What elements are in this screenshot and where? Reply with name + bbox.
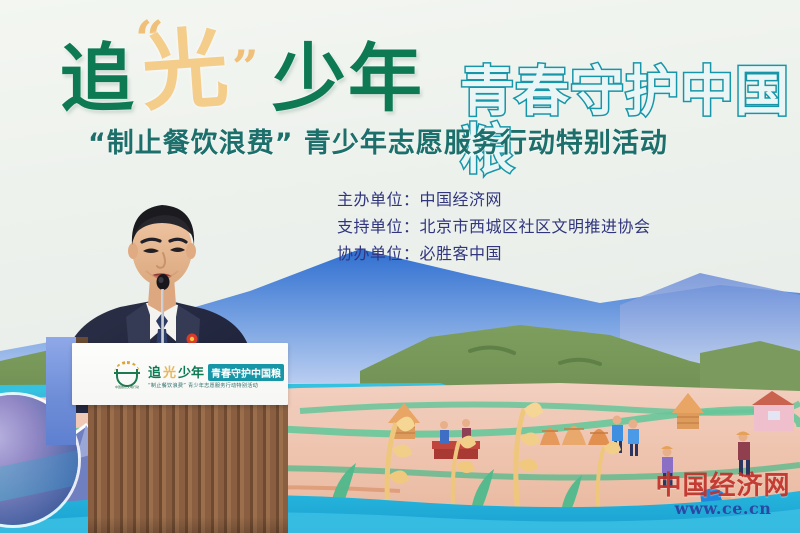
emblem-caption: 中国餐饮文明行动 (114, 385, 140, 390)
podium-title-zhui: 追 (148, 362, 161, 381)
title-tagline: 青春守护中国粮 (460, 63, 795, 179)
watermark-site-name: 中国经济网 (653, 472, 793, 500)
campaign-emblem-icon: 中国餐饮文明行动 (112, 360, 142, 390)
screenshot-root: “ 追 光 ” 少年 青春守护中国粮 “制止餐饮浪费” 青少年志愿服务行动特别活… (0, 0, 800, 533)
podium-sign-text: 追 光 少年 青春守护中国粮 “制止餐饮浪费” 青少年志愿服务行动特别活动 (148, 362, 284, 389)
title-chars-shaonian: 少年 (272, 40, 424, 118)
title-char-guang-highlight: 光 (139, 23, 231, 119)
podium-subtitle: “制止餐饮浪费” 青少年志愿服务行动特别活动 (148, 382, 284, 389)
banner-headline: “ 追 光 ” 少年 青春守护中国粮 (60, 18, 795, 138)
podium-front-panel: 中国餐饮文明行动 追 光 少年 青春守护中国粮 “制止餐饮浪费” 青少年志愿服务… (72, 343, 288, 405)
podium-base-shadow (88, 517, 288, 533)
podium-title-shaonian: 少年 (178, 362, 204, 381)
organizer-supporter: 支持单位：北京市西城区社区文明推进协会 (337, 213, 651, 240)
organizer-host: 主办单位：中国经济网 (337, 186, 651, 213)
podium-title-guang: 光 (163, 362, 176, 381)
podium-sign: 中国餐饮文明行动 追 光 少年 青春守护中国粮 “制止餐饮浪费” 青少年志愿服务… (112, 353, 308, 397)
podium-title-tagline: 青春守护中国粮 (208, 364, 284, 381)
organizer-list: 主办单位：中国经济网 支持单位：北京市西城区社区文明推进协会 协办单位：必胜客中… (337, 186, 651, 267)
organizer-coorganizer: 协办单位：必胜客中国 (337, 240, 651, 267)
title-char-zhui: 追 (60, 40, 136, 118)
watermark: 中国经济网 www.ce.cn (653, 472, 793, 518)
quote-close-mark: ” (232, 44, 254, 90)
watermark-url: www.ce.cn (653, 500, 793, 518)
podium: 中国餐饮文明行动 追 光 少年 青春守护中国粮 “制止餐饮浪费” 青少年志愿服务… (46, 343, 296, 533)
podium-body-slats (88, 399, 288, 533)
